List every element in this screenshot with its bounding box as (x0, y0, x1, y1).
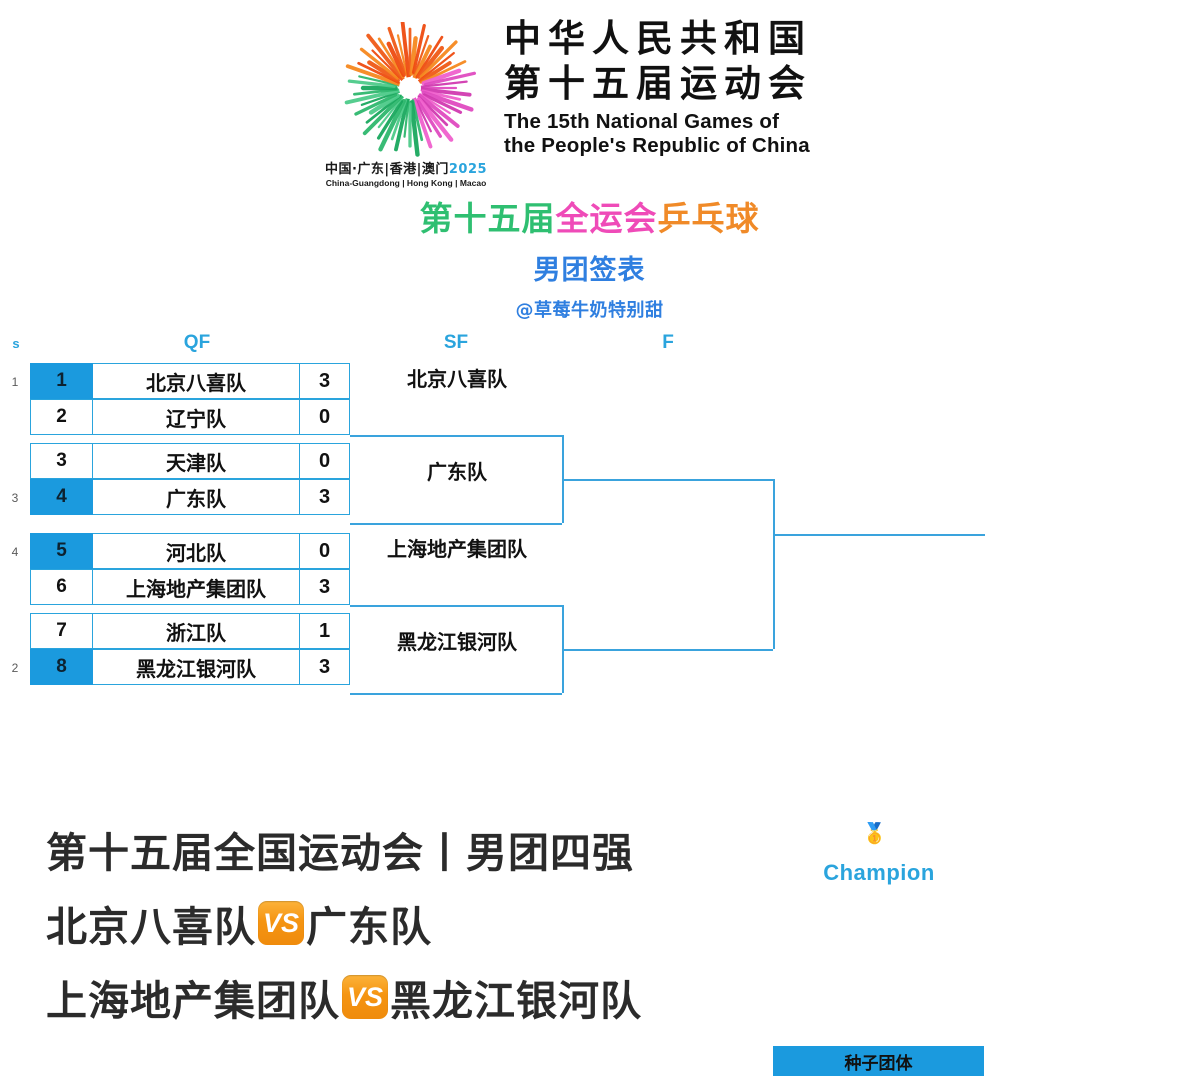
match-score: 0 (300, 443, 350, 479)
semifinal-team-4: 黑龙江银河队 (352, 626, 562, 655)
match-score: 0 (300, 533, 350, 569)
match-score: 1 (300, 613, 350, 649)
semifinal-team-1: 北京八喜队 (352, 363, 562, 392)
match-score: 3 (300, 569, 350, 605)
author-handle: @草莓牛奶特别甜 (0, 296, 1179, 322)
emblem-caption: 中国·广东|香港|澳门2025 China-Guangdong | Hong K… (306, 158, 506, 188)
semifinal-team-2: 广东队 (352, 456, 562, 485)
page-title-segment-3: 乒乓球 (658, 199, 760, 238)
seed-number: 3 (4, 491, 26, 505)
column-header-quarterfinal: QF (147, 332, 247, 354)
position-number: 6 (30, 569, 93, 605)
position-number: 3 (30, 443, 93, 479)
games-logo: 中国·广东|香港|澳门2025 China-Guangdong | Hong K… (300, 16, 860, 188)
team-name: 黑龙江银河队 (93, 649, 300, 685)
emblem-caption-cn: 中国·广东|香港|澳门 (325, 162, 449, 177)
position-number: 2 (30, 399, 93, 435)
match-score: 3 (300, 649, 350, 685)
header-banner: 中国·广东|香港|澳门2025 China-Guangdong | Hong K… (0, 0, 1179, 330)
vs-badge-icon: VS (342, 975, 388, 1019)
caption-line-3: 上海地产集团队 VS 黑龙江银河队 (46, 960, 1146, 1034)
team-name: 河北队 (93, 533, 300, 569)
team-name: 天津队 (93, 443, 300, 479)
team-name: 广东队 (93, 479, 300, 515)
champion-line (773, 534, 985, 536)
caption-line-2-left: 北京八喜队 (46, 893, 256, 953)
logo-line-3: The 15th National Games of (504, 110, 864, 134)
match-score: 3 (300, 363, 350, 399)
emblem-caption-year: 2025 (449, 162, 487, 177)
games-logo-text: 中华人民共和国 第十五届运动会 The 15th National Games … (504, 16, 864, 159)
caption-line-2-right: 广东队 (306, 893, 432, 953)
logo-line-4: the People's Republic of China (504, 134, 864, 158)
match-score: 0 (300, 399, 350, 435)
sf-arm-2 (350, 523, 562, 525)
position-number: 5 (30, 533, 93, 569)
logo-line-2: 第十五届运动会 (504, 61, 864, 106)
team-name: 上海地产集团队 (93, 569, 300, 605)
page-title: 第十五届全运会乒乓球 (0, 192, 1179, 240)
final-arm-lower (562, 649, 773, 651)
seed-number: 2 (4, 661, 26, 675)
column-header-seed: s (6, 336, 26, 351)
sf-arm-top (350, 435, 562, 437)
starburst-emblem-icon (330, 22, 490, 158)
emblem-caption-en: China-Guangdong | Hong Kong | Macao (306, 178, 506, 188)
caption-line-3-right: 黑龙江银河队 (390, 967, 642, 1027)
seed-number: 4 (4, 545, 26, 559)
tournament-bracket: s QF SF F 11北京八喜队32辽宁队03天津队034广东队345河北队0… (0, 330, 1179, 770)
position-number: 4 (30, 479, 93, 515)
position-number: 1 (30, 363, 93, 399)
team-name: 辽宁队 (93, 399, 300, 435)
caption-line-1: 第十五届全国运动会丨男团四强 (46, 812, 1146, 886)
semifinal-team-3: 上海地产集团队 (352, 533, 562, 562)
page-subtitle: 男团签表 (0, 248, 1179, 287)
column-header-final: F (618, 332, 718, 354)
column-header-semifinal: SF (406, 332, 506, 354)
page-title-segment-1: 第十五届 (420, 199, 556, 238)
final-arm-upper (562, 479, 773, 481)
position-number: 8 (30, 649, 93, 685)
vs-badge-icon: VS (258, 901, 304, 945)
team-name: 浙江队 (93, 613, 300, 649)
sf-arm-4 (350, 693, 562, 695)
seed-number: 1 (4, 375, 26, 389)
match-score: 3 (300, 479, 350, 515)
caption-line-1-text: 第十五届全国运动会丨男团四强 (46, 819, 634, 879)
team-name: 北京八喜队 (93, 363, 300, 399)
legend-label: 种子团体 (845, 1049, 913, 1074)
final-join (773, 479, 775, 649)
caption-block: 第十五届全国运动会丨男团四强 北京八喜队 VS 广东队 上海地产集团队 VS 黑… (46, 812, 1146, 1034)
logo-line-1: 中华人民共和国 (504, 16, 864, 61)
page-title-segment-2: 全运会 (556, 199, 658, 238)
sf-arm-3 (350, 605, 562, 607)
position-number: 7 (30, 613, 93, 649)
caption-line-2: 北京八喜队 VS 广东队 (46, 886, 1146, 960)
caption-line-3-left: 上海地产集团队 (46, 967, 340, 1027)
